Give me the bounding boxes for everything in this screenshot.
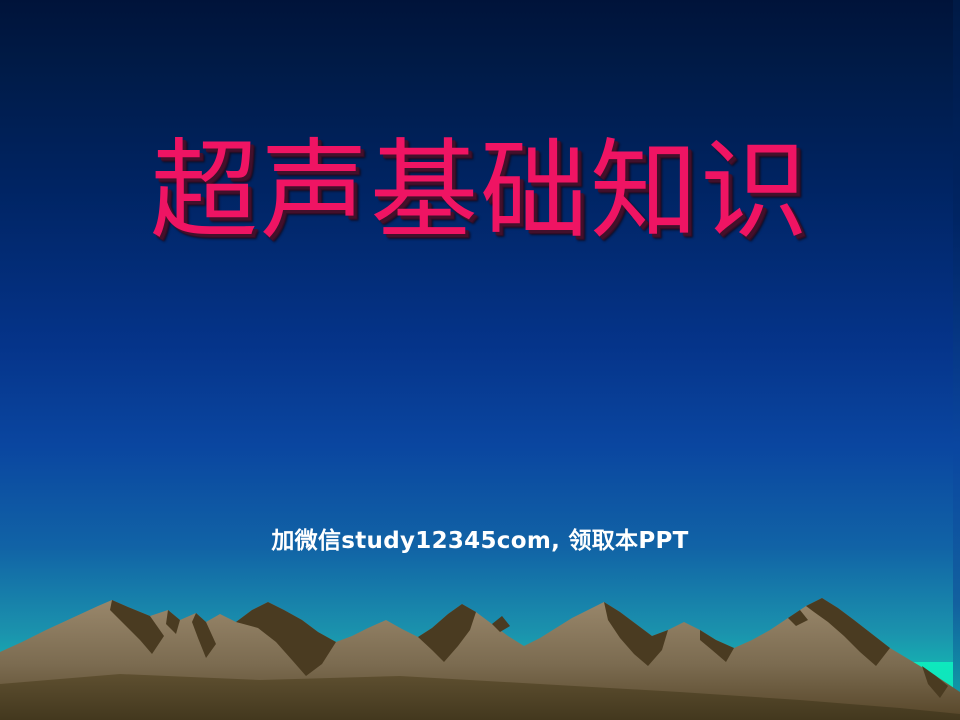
mountain-silhouette bbox=[0, 580, 960, 720]
subtitle-text: 加微信study12345com, 领取本PPT bbox=[271, 521, 688, 555]
subtitle-container: 加微信study12345com, 领取本PPT bbox=[0, 521, 960, 555]
presentation-slide: 超声基础知识 加微信study12345com, 领取本PPT bbox=[0, 0, 960, 720]
